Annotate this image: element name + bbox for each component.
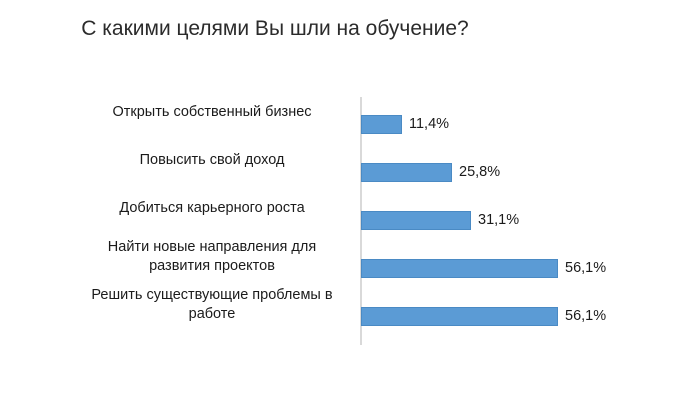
bar[interactable] [361, 115, 402, 134]
chart-title: С какими целями Вы шли на обучение? [75, 14, 475, 43]
bar-row: Открыть собственный бизнес11,4% [0, 97, 700, 145]
bar-value-label: 25,8% [459, 164, 500, 181]
bar-row: Решить существующие проблемы в работе56,… [0, 289, 700, 337]
category-label: Добиться карьерного роста [72, 199, 352, 218]
bar-value-label: 11,4% [409, 116, 449, 133]
category-label: Решить существующие проблемы в работе [72, 286, 352, 324]
category-label: Повысить свой доход [72, 151, 352, 170]
bar[interactable] [361, 259, 558, 278]
bar-row: Найти новые направления для развития про… [0, 241, 700, 289]
bar-row: Добиться карьерного роста31,1% [0, 193, 700, 241]
plot-area: Открыть собственный бизнес11,4%Повысить … [0, 97, 700, 347]
bar[interactable] [361, 211, 471, 230]
bar-value-label: 31,1% [478, 212, 519, 229]
category-label: Найти новые направления для развития про… [72, 238, 352, 276]
bar[interactable] [361, 307, 558, 326]
bar-value-label: 56,1% [565, 308, 606, 325]
bar-chart: С какими целями Вы шли на обучение? Откр… [0, 0, 700, 408]
bar-row: Повысить свой доход25,8% [0, 145, 700, 193]
bar[interactable] [361, 163, 452, 182]
bar-value-label: 56,1% [565, 260, 606, 277]
bar-rows: Открыть собственный бизнес11,4%Повысить … [0, 97, 700, 347]
category-label: Открыть собственный бизнес [72, 103, 352, 122]
